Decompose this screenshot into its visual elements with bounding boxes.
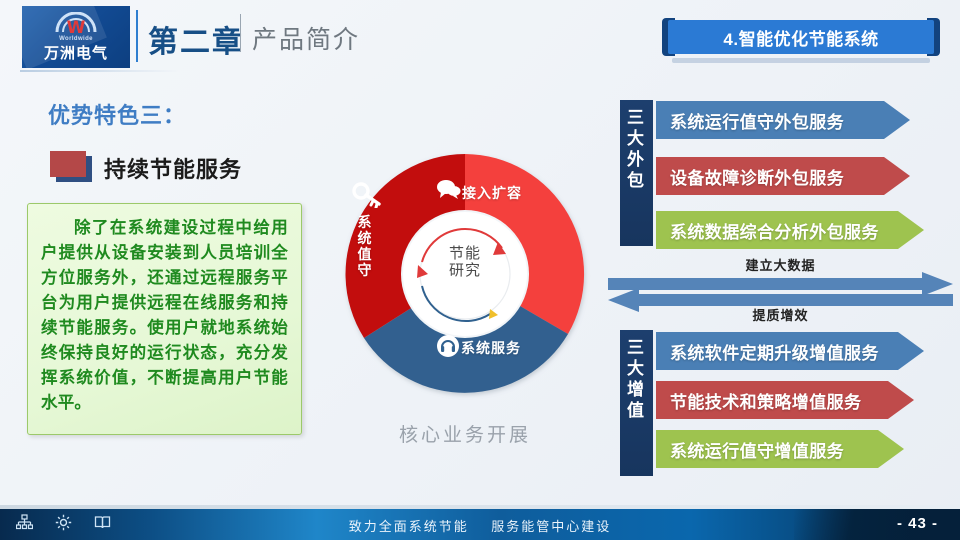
value-added-arrow-1-label: 系统软件定期升级增值服务 xyxy=(656,339,879,364)
description-paragraph: 除了在系统建设过程中给用户提供从设备安装到人员培训全方位服务外，还通过远程服务平… xyxy=(41,215,288,415)
slide-root: W Worldwide 万洲电气 第二章 产品简介 优势特色三： 持续节能服务 … xyxy=(0,0,960,540)
donut-caption: 核心业务开展 xyxy=(330,420,600,447)
advantage-title: 优势特色三： xyxy=(48,98,186,130)
header-accent-bar xyxy=(136,10,138,62)
value-added-arrow-3[interactable]: 系统运行值守增值服务 xyxy=(656,430,904,468)
speech-bubble-icon xyxy=(435,178,461,205)
banner-title-text: 4.智能优化节能系统 xyxy=(723,25,878,50)
outsourcing-vertical-tab: 三大外包 xyxy=(620,100,653,246)
value-added-arrow-1[interactable]: 系统软件定期升级增值服务 xyxy=(656,332,924,370)
feature-heading: 持续节能服务 xyxy=(48,150,318,186)
page-number: - 43 - xyxy=(897,515,938,532)
section-title-banner: 4.智能优化节能系统 xyxy=(662,18,940,56)
key-icon xyxy=(352,182,382,213)
chapter-title: 第二章 xyxy=(148,17,244,61)
core-business-donut-chart: 节能 研究 接入扩容 系统服务 xyxy=(330,138,600,410)
donut-segment-label-access: 接入扩容 xyxy=(462,183,522,203)
header-separator xyxy=(240,14,241,52)
slide-footer: 致力全面系统节能 服务能管中心建设 - 43 - xyxy=(0,509,960,540)
outsourcing-arrow-2-label: 设备故障诊断外包服务 xyxy=(656,164,844,189)
footer-slogan-right: 服务能管中心建设 xyxy=(491,519,611,534)
value-added-vertical-tab: 三大增值 xyxy=(620,330,653,476)
footer-slogan-left: 致力全面系统节能 xyxy=(349,519,469,534)
company-logo: W Worldwide 万洲电气 xyxy=(22,6,130,68)
outsourcing-arrow-3[interactable]: 系统数据综合分析外包服务 xyxy=(656,211,924,249)
donut-center-line2: 研究 xyxy=(415,262,515,279)
outsourcing-arrow-1-label: 系统运行值守外包服务 xyxy=(656,108,844,133)
value-added-arrow-2[interactable]: 节能技术和策略增值服务 xyxy=(656,381,914,419)
value-added-arrow-3-label: 系统运行值守增值服务 xyxy=(656,437,844,462)
mid-arrow-label-bottom: 提质增效 xyxy=(608,305,953,324)
donut-segment-label-service: 系统服务 xyxy=(461,338,521,358)
logo-chinese-text: 万洲电气 xyxy=(22,42,130,63)
feature-heading-label: 持续节能服务 xyxy=(104,152,242,184)
description-callout: 除了在系统建设过程中给用户提供从设备安装到人员培训全方位服务外，还通过远程服务平… xyxy=(27,203,302,435)
value-added-arrow-2-label: 节能技术和策略增值服务 xyxy=(656,388,861,413)
outsourcing-arrow-1[interactable]: 系统运行值守外包服务 xyxy=(656,101,910,139)
donut-center-label: 节能 研究 xyxy=(415,245,515,279)
feature-square-front-icon xyxy=(50,151,86,177)
banner-shadow xyxy=(672,58,930,63)
header-underline xyxy=(20,70,180,72)
donut-center-line1: 节能 xyxy=(415,245,515,262)
donut-segment-label-duty: 系统值守 xyxy=(357,214,373,278)
outsourcing-arrow-3-label: 系统数据综合分析外包服务 xyxy=(656,218,879,243)
page-subtitle: 产品简介 xyxy=(252,20,360,56)
headset-icon xyxy=(436,334,460,363)
svg-text:W: W xyxy=(67,18,86,36)
outsourcing-arrow-2[interactable]: 设备故障诊断外包服务 xyxy=(656,157,910,195)
bidirectional-arrow-group: 建立大数据 提质增效 xyxy=(608,255,953,323)
banner-body: 4.智能优化节能系统 xyxy=(668,20,934,54)
